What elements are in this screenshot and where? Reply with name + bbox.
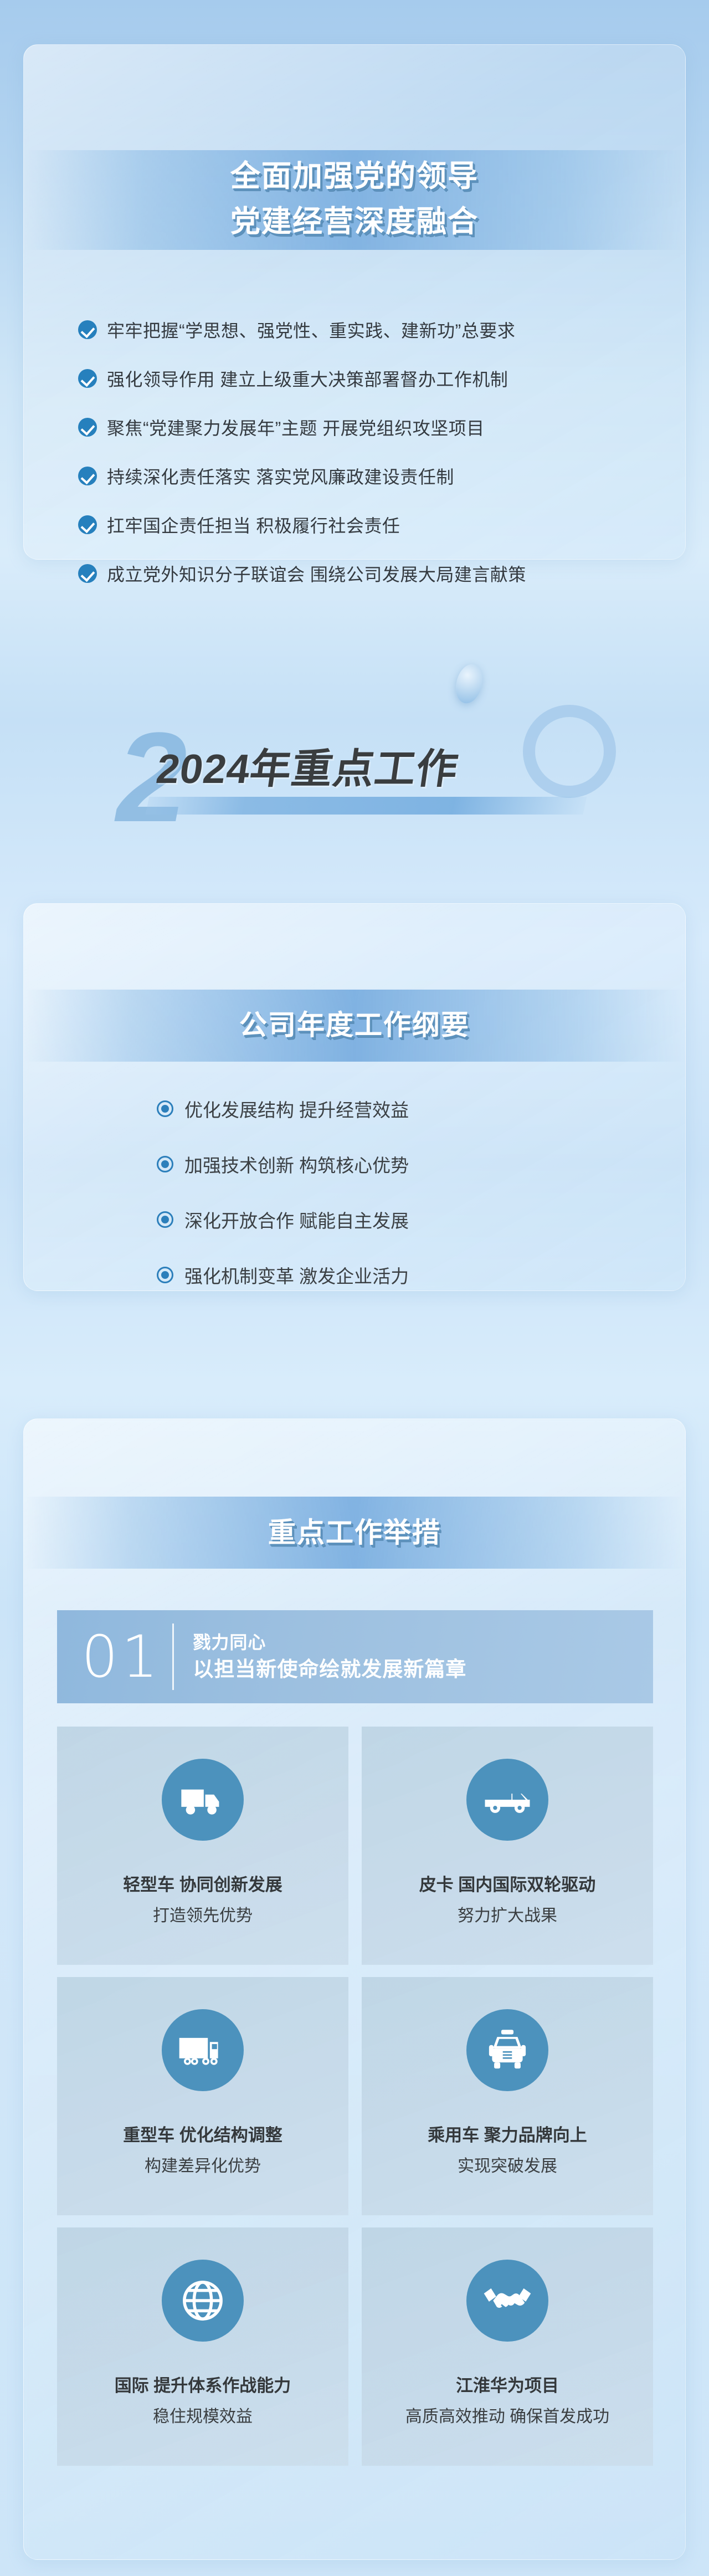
- party-bullet-list: 牢牢把握“学思想、强党性、重实践、建新功”总要求 强化领导作用 建立上级重大决策…: [78, 305, 693, 598]
- section-underline-bar: [146, 797, 587, 815]
- key-measures-card: 重点工作举措 01 戮力同心 以担当新使命绘就发展新篇章: [23, 1418, 686, 2560]
- page-title-line2: 党建经营深度融合: [24, 199, 685, 244]
- page-title-line1: 全面加强党的领导: [24, 153, 685, 199]
- list-item: 强化机制变革 激发企业活力: [157, 1247, 655, 1303]
- list-item: 聚焦“党建聚力发展年”主题 开展党组织攻坚项目: [78, 403, 693, 452]
- list-item-label: 强化机制变革 激发企业活力: [184, 1262, 409, 1288]
- tile-line1: 皮卡 国内国际双轮驱动: [419, 1870, 596, 1901]
- list-item: 扛牢国企责任担当 积极履行社会责任: [78, 500, 693, 549]
- box-truck-icon: [162, 1759, 244, 1841]
- tile-light-truck[interactable]: 轻型车 协同创新发展 打造领先优势: [57, 1727, 348, 1965]
- list-item: 优化发展结构 提升经营效益: [157, 1081, 655, 1136]
- check-circle-icon: [78, 320, 97, 339]
- poster-page: 全面加强党的领导 党建经营深度融合 牢牢把握“学思想、强党性、重实践、建新功”总…: [0, 0, 709, 2576]
- check-circle-icon: [78, 467, 97, 485]
- party-leadership-card: 全面加强党的领导 党建经营深度融合 牢牢把握“学思想、强党性、重实践、建新功”总…: [23, 44, 686, 560]
- decorative-ring: [523, 705, 616, 798]
- tile-line1: 乘用车 聚力品牌向上: [428, 2120, 587, 2151]
- check-circle-icon: [78, 564, 97, 583]
- tile-line1: 国际 提升体系作战能力: [115, 2370, 291, 2401]
- tile-line2: 构建差异化优势: [145, 2151, 261, 2182]
- heavy-truck-icon: [162, 2009, 244, 2091]
- section-2-banner: 2 2024年重点工作: [0, 654, 709, 848]
- key-measures-title: 重点工作举措: [24, 1502, 685, 1563]
- radio-dot-icon: [157, 1211, 173, 1228]
- radio-dot-icon: [157, 1156, 173, 1172]
- measure-number-banner: 01 戮力同心 以担当新使命绘就发展新篇章: [57, 1610, 653, 1703]
- radio-dot-icon: [157, 1100, 173, 1117]
- list-item-label: 深化开放合作 赋能自主发展: [184, 1206, 409, 1233]
- measure-number: 01: [81, 1626, 161, 1687]
- list-item: 深化开放合作 赋能自主发展: [157, 1192, 655, 1247]
- measure-tile-grid: 轻型车 协同创新发展 打造领先优势 皮卡 国内国际双轮驱动 努力扩大战果: [57, 1727, 653, 2466]
- measure-banner-text: 戮力同心 以担当新使命绘就发展新篇章: [193, 1630, 466, 1684]
- handshake-icon: [466, 2260, 548, 2342]
- check-circle-icon: [78, 369, 97, 388]
- list-item: 牢牢把握“学思想、强党性、重实践、建新功”总要求: [78, 305, 693, 354]
- tile-line2: 努力扩大战果: [458, 1901, 557, 1932]
- section-2-title: 2024年重点工作: [153, 736, 463, 795]
- list-item-label: 聚焦“党建聚力发展年”主题 开展党组织攻坚项目: [107, 414, 485, 440]
- list-item: 加强技术创新 构筑核心优势: [157, 1136, 655, 1192]
- tile-line2: 稳住规模效益: [153, 2401, 253, 2432]
- tile-pickup[interactable]: 皮卡 国内国际双轮驱动 努力扩大战果: [362, 1727, 653, 1965]
- passenger-car-icon: [466, 2009, 548, 2091]
- pickup-truck-icon: [466, 1759, 548, 1841]
- radio-dot-icon: [157, 1267, 173, 1283]
- measure-banner-line2: 以担当新使命绘就发展新篇章: [193, 1655, 466, 1684]
- list-item-label: 优化发展结构 提升经营效益: [184, 1095, 409, 1122]
- list-item: 强化领导作用 建立上级重大决策部署督办工作机制: [78, 354, 693, 403]
- divider: [172, 1624, 174, 1690]
- tile-line2: 高质高效推动 确保首发成功: [405, 2401, 609, 2432]
- measure-banner-line1: 戮力同心: [193, 1630, 466, 1655]
- list-item-label: 加强技术创新 构筑核心优势: [184, 1151, 409, 1177]
- tile-line1: 江淮华为项目: [456, 2370, 559, 2401]
- page-title: 全面加强党的领导 党建经营深度融合: [24, 153, 685, 244]
- tile-line1: 轻型车 协同创新发展: [123, 1870, 282, 1901]
- tile-line1: 重型车 优化结构调整: [123, 2120, 282, 2151]
- globe-icon: [162, 2260, 244, 2342]
- tile-jac-huawei-project: 江淮华为项目 高质高效推动 确保首发成功: [362, 2227, 653, 2466]
- tile-heavy-truck: 重型车 优化结构调整 构建差异化优势: [57, 1977, 348, 2215]
- list-item-label: 扛牢国企责任担当 积极履行社会责任: [107, 512, 400, 537]
- annual-outline-list: 优化发展结构 提升经营效益 加强技术创新 构筑核心优势 深化开放合作 赋能自主发…: [157, 1081, 655, 1303]
- tile-line2: 打造领先优势: [153, 1901, 253, 1932]
- list-item: 持续深化责任落实 落实党风廉政建设责任制: [78, 452, 693, 500]
- decorative-blob: [452, 662, 486, 706]
- annual-outline-title: 公司年度工作纲要: [24, 995, 685, 1056]
- list-item-label: 强化领导作用 建立上级重大决策部署督办工作机制: [107, 366, 508, 391]
- annual-outline-card: 公司年度工作纲要 优化发展结构 提升经营效益 加强技术创新 构筑核心优势 深化开…: [23, 903, 686, 1291]
- tile-passenger-car: 乘用车 聚力品牌向上 实现突破发展: [362, 1977, 653, 2215]
- tile-international: 国际 提升体系作战能力 稳住规模效益: [57, 2227, 348, 2466]
- check-circle-icon: [78, 418, 97, 437]
- list-item-label: 牢牢把握“学思想、强党性、重实践、建新功”总要求: [107, 317, 515, 342]
- list-item-label: 持续深化责任落实 落实党风廉政建设责任制: [107, 463, 454, 489]
- tile-line2: 实现突破发展: [458, 2151, 557, 2182]
- list-item-label: 成立党外知识分子联谊会 围绕公司发展大局建言献策: [107, 561, 526, 586]
- list-item: 成立党外知识分子联谊会 围绕公司发展大局建言献策: [78, 549, 693, 598]
- check-circle-icon: [78, 515, 97, 534]
